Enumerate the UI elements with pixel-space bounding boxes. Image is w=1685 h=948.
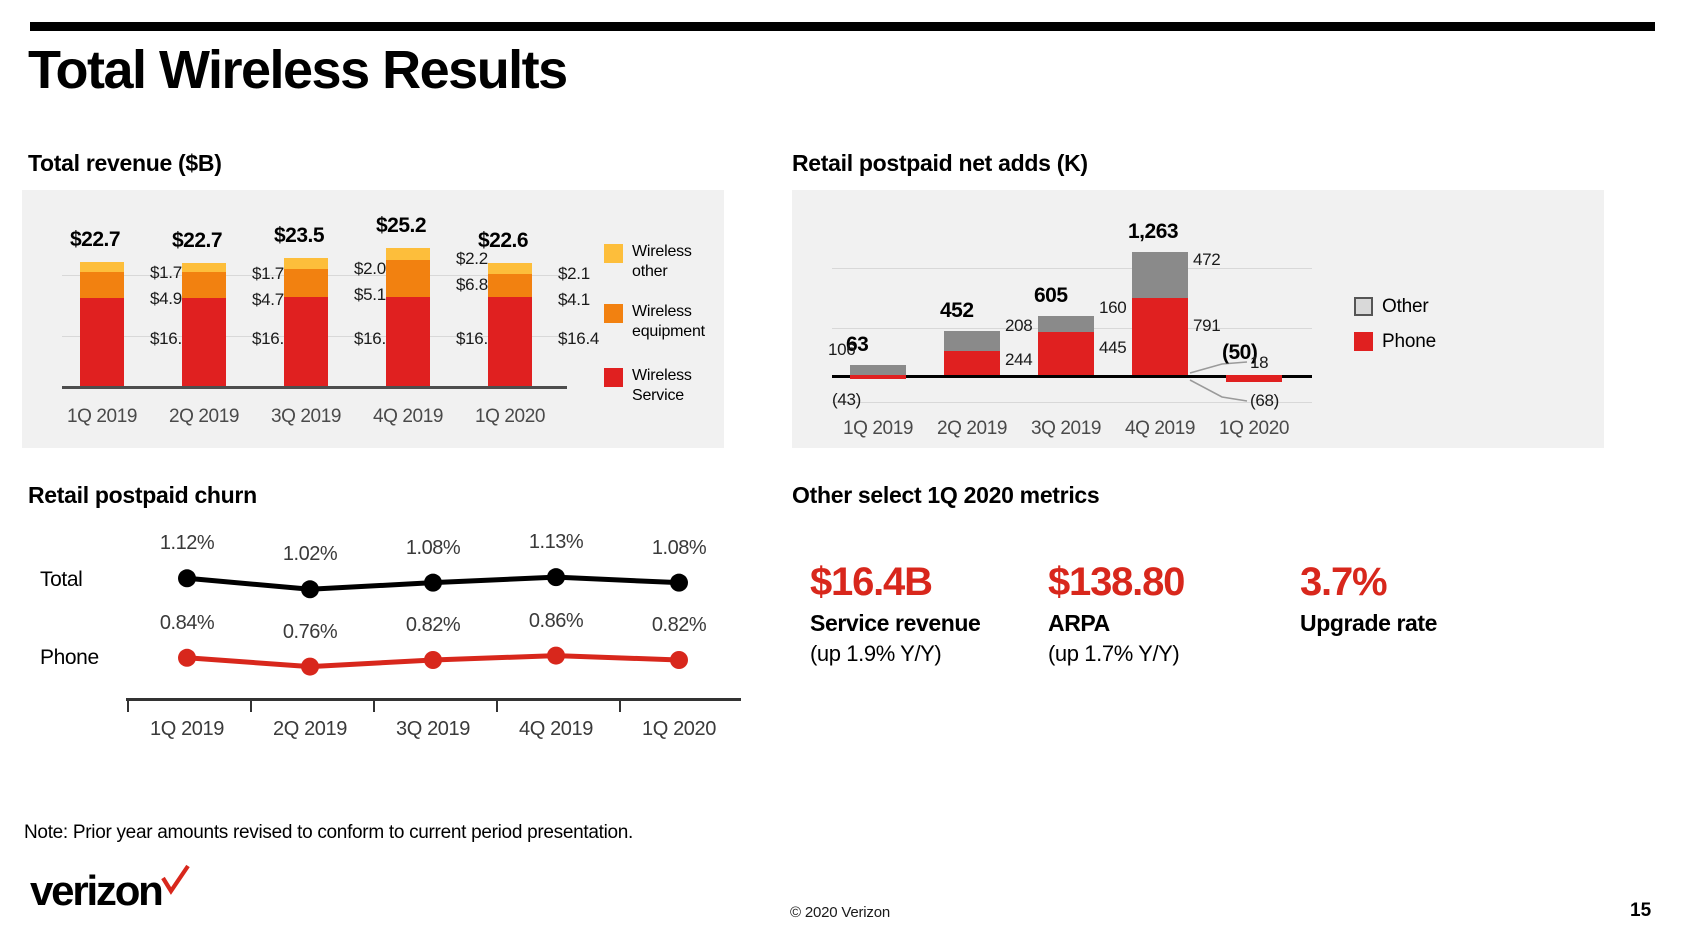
netadds-other-segment (1132, 252, 1188, 298)
revenue-x-label: 1Q 2020 (460, 406, 560, 428)
netadds-label-other: 160 (1099, 298, 1126, 318)
netadds-x-label: 4Q 2019 (1110, 418, 1210, 440)
metric-service-revenue: $16.4B Service revenue (up 1.9% Y/Y) (810, 560, 980, 667)
copyright-text: © 2020 Verizon (790, 904, 890, 921)
netadds-x-label: 3Q 2019 (1016, 418, 1116, 440)
revenue-axis-line (62, 386, 567, 389)
revenue-bar-1q-2020 (488, 263, 532, 386)
netadds-other-segment (850, 365, 906, 375)
revenue-label-equipment: $4.1 (558, 290, 590, 310)
revenue-bar-total: $22.7 (70, 228, 120, 252)
revenue-x-label: 2Q 2019 (154, 406, 254, 428)
revenue-segment (80, 298, 124, 386)
netadds-legend-item: Other (1354, 295, 1429, 319)
churn-axis-tick (250, 698, 252, 712)
legend-swatch-icon (604, 304, 623, 323)
churn-point-label: 0.86% (511, 610, 601, 633)
revenue-bar-1q-2019 (80, 262, 124, 386)
revenue-label-other: $2.1 (558, 264, 590, 284)
revenue-label-other: $2.0 (354, 259, 386, 279)
revenue-segment (182, 272, 226, 298)
revenue-bar-3q-2019 (284, 258, 328, 386)
revenue-legend-item: Wireless other (604, 242, 692, 282)
netadds-legend-item: Phone (1354, 330, 1436, 354)
checkmark-icon (158, 864, 192, 898)
metric-value: 3.7% (1300, 560, 1437, 604)
churn-point (424, 651, 442, 669)
retail-postpaid-net-adds-chart: 631Q 20194522Q 20196053Q 20191,2634Q 201… (792, 190, 1604, 448)
revenue-label-equipment: $5.1 (354, 285, 386, 305)
netadds-phone-segment (1132, 298, 1188, 375)
churn-axis-tick (619, 698, 621, 712)
legend-label: Wireless Service (632, 366, 692, 406)
netadds-phone-segment (944, 351, 1000, 375)
revenue-segment (488, 297, 532, 386)
churn-point (547, 568, 565, 586)
logo-wordmark: verizon (30, 870, 162, 912)
footnote: Note: Prior year amounts revised to conf… (24, 822, 633, 844)
churn-point (547, 647, 565, 665)
churn-point (178, 569, 196, 587)
churn-point (670, 651, 688, 669)
churn-x-label: 1Q 2019 (127, 718, 247, 741)
netadds-label-other: 208 (1005, 316, 1032, 336)
netadds-label-phone: 445 (1099, 338, 1126, 358)
churn-point (670, 574, 688, 592)
revenue-bar-total: $23.5 (274, 224, 324, 248)
churn-series-label-total: Total (40, 568, 82, 592)
netadds-label-phone: 791 (1193, 316, 1220, 336)
netadds-gridline (832, 402, 1312, 403)
netadds-phone-segment (1226, 375, 1282, 382)
revenue-segment (488, 263, 532, 274)
churn-point-label: 1.12% (142, 532, 232, 555)
metric-arpa: $138.80 ARPA (up 1.7% Y/Y) (1048, 560, 1184, 667)
metric-label: ARPA (1048, 610, 1184, 638)
netadds-label-other: 106 (828, 340, 855, 360)
metric-upgrade-rate: 3.7% Upgrade rate (1300, 560, 1437, 641)
churn-axis-tick (127, 698, 129, 712)
page-number: 15 (1630, 900, 1651, 922)
legend-label: Other (1382, 295, 1429, 319)
churn-point-label: 1.02% (265, 543, 355, 566)
revenue-section-heading: Total revenue ($B) (28, 150, 222, 177)
legend-swatch-icon (604, 368, 623, 387)
revenue-label-service: $16.4 (558, 329, 599, 349)
revenue-x-label: 4Q 2019 (358, 406, 458, 428)
churn-x-label: 1Q 2020 (619, 718, 739, 741)
page-title: Total Wireless Results (28, 42, 567, 99)
revenue-segment (386, 248, 430, 260)
legend-label: Wireless equipment (632, 302, 705, 342)
revenue-segment (386, 297, 430, 386)
metric-label: Upgrade rate (1300, 610, 1437, 638)
metric-value: $138.80 (1048, 560, 1184, 604)
revenue-segment (284, 258, 328, 269)
netadds-label-phone: 244 (1005, 350, 1032, 370)
revenue-segment (182, 263, 226, 272)
netadds-bar-total: 1,263 (1128, 220, 1178, 244)
revenue-segment (80, 272, 124, 299)
netadds-x-label: 2Q 2019 (922, 418, 1022, 440)
churn-point-label: 0.76% (265, 621, 355, 644)
netadds-phone-segment (850, 375, 906, 379)
revenue-bar-2q-2019 (182, 263, 226, 386)
netadds-label-other: 18 (1250, 353, 1268, 373)
metrics-section-heading: Other select 1Q 2020 metrics (792, 482, 1099, 509)
revenue-legend-item: Wireless equipment (604, 302, 705, 342)
revenue-label-other: $1.7 (150, 263, 182, 283)
revenue-segment (284, 297, 328, 386)
churn-x-label: 3Q 2019 (373, 718, 493, 741)
churn-series-label-phone: Phone (40, 646, 99, 670)
revenue-segment (488, 274, 532, 296)
metric-subtext: (up 1.9% Y/Y) (810, 641, 980, 667)
revenue-bar-total: $22.7 (172, 229, 222, 253)
title-rule (30, 22, 1655, 31)
netadds-section-heading: Retail postpaid net adds (K) (792, 150, 1088, 177)
metric-value: $16.4B (810, 560, 980, 604)
legend-swatch-icon (1354, 297, 1373, 316)
slide: Total Wireless Results Total revenue ($B… (0, 0, 1685, 948)
netadds-x-label: 1Q 2020 (1204, 418, 1304, 440)
revenue-bar-total: $22.6 (478, 229, 528, 253)
revenue-x-label: 1Q 2019 (52, 406, 152, 428)
churn-point-label: 0.82% (634, 614, 724, 637)
metric-subtext: (up 1.7% Y/Y) (1048, 641, 1184, 667)
netadds-other-segment (944, 331, 1000, 351)
revenue-segment (284, 269, 328, 297)
churn-x-label: 4Q 2019 (496, 718, 616, 741)
churn-axis-line (126, 698, 741, 701)
netadds-bar-total: 605 (1034, 284, 1068, 308)
churn-section-heading: Retail postpaid churn (28, 482, 257, 509)
netadds-gridline (832, 268, 1312, 269)
churn-point (301, 658, 319, 676)
netadds-phone-segment (1038, 332, 1094, 375)
netadds-label-phone: (68) (1250, 391, 1279, 411)
revenue-segment (182, 298, 226, 386)
legend-swatch-icon (604, 244, 623, 263)
netadds-x-label: 1Q 2019 (828, 418, 928, 440)
revenue-label-equipment: $6.8 (456, 275, 488, 295)
revenue-label-other: $1.7 (252, 264, 284, 284)
churn-point-label: 1.08% (634, 537, 724, 560)
netadds-label-phone: (43) (832, 390, 861, 410)
revenue-bar-4q-2019 (386, 248, 430, 386)
churn-axis-tick (373, 698, 375, 712)
netadds-other-segment (1038, 316, 1094, 332)
legend-swatch-icon (1354, 332, 1373, 351)
churn-point (301, 580, 319, 598)
legend-label: Phone (1382, 330, 1436, 354)
churn-point-label: 0.84% (142, 612, 232, 635)
churn-point (424, 574, 442, 592)
verizon-logo: verizon (30, 870, 192, 912)
revenue-legend-item: Wireless Service (604, 366, 692, 406)
total-revenue-chart: $22.7$1.7$4.9$16.11Q 2019$22.7$1.7$4.7$1… (22, 190, 724, 448)
churn-axis-tick (496, 698, 498, 712)
legend-label: Wireless other (632, 242, 692, 282)
revenue-bar-total: $25.2 (376, 214, 426, 238)
netadds-bar-total: 452 (940, 299, 974, 323)
revenue-segment (80, 262, 124, 271)
churn-point-label: 1.08% (388, 537, 478, 560)
retail-postpaid-churn-chart: 1.12%1.02%1.08%1.13%1.08%Total0.84%0.76%… (22, 520, 762, 750)
revenue-segment (386, 260, 430, 297)
churn-point-label: 0.82% (388, 614, 478, 637)
churn-x-label: 2Q 2019 (250, 718, 370, 741)
revenue-x-label: 3Q 2019 (256, 406, 356, 428)
churn-point-label: 1.13% (511, 531, 601, 554)
netadds-label-other: 472 (1193, 250, 1220, 270)
revenue-label-equipment: $4.7 (252, 290, 284, 310)
churn-point (178, 649, 196, 667)
metric-label: Service revenue (810, 610, 980, 638)
revenue-label-equipment: $4.9 (150, 289, 182, 309)
